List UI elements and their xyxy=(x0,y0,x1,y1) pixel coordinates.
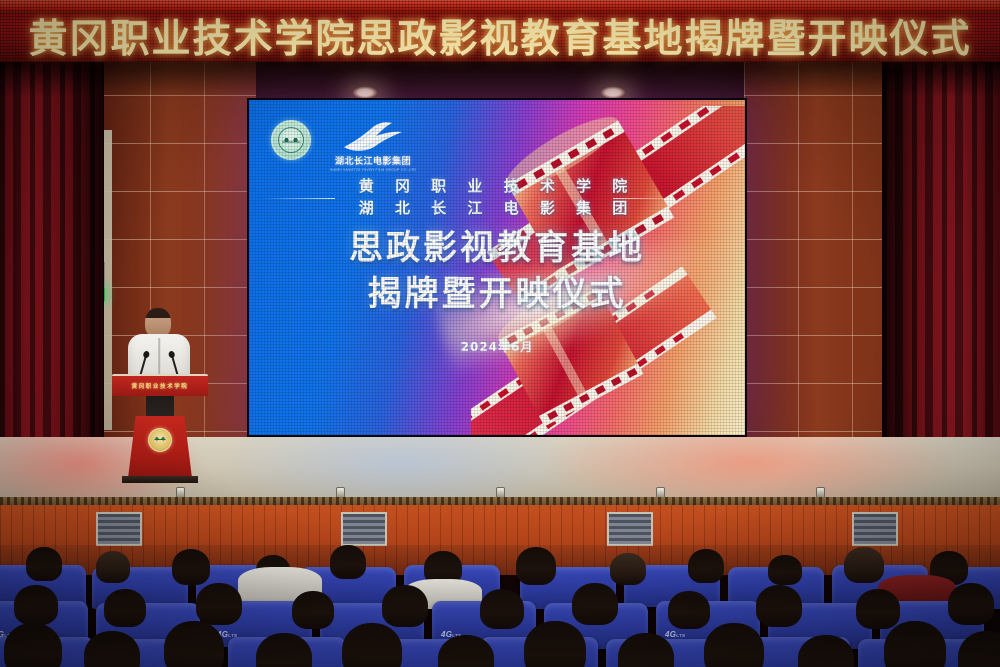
film-group-name-cn: 湖北长江电影集团 xyxy=(327,154,419,167)
audience-seating: 4GLTE 4GLTE 4GLTE 4GLTE 4GLTE 4GL xyxy=(0,545,1000,667)
headline-line-1: 思政影视教育基地 xyxy=(249,226,745,272)
audience-head xyxy=(196,583,242,625)
lectern-top: 黄冈职业技术学院 xyxy=(112,374,208,396)
audience-head xyxy=(610,553,646,585)
audience-head xyxy=(844,547,884,583)
film-group-name-en: HUBEI YANGTZE RIVER FILM GROUP CO.,LTD xyxy=(327,168,419,172)
stage-top-shadow xyxy=(0,58,1000,98)
stage-wall-right xyxy=(744,60,904,480)
stage-front-vent xyxy=(852,512,898,546)
audience-head xyxy=(330,545,366,579)
audience-head xyxy=(524,621,586,667)
lectern-neck xyxy=(146,396,174,418)
decorative-rule-right xyxy=(613,198,685,199)
audience-head xyxy=(104,589,146,627)
stage-front-vent xyxy=(607,512,653,546)
film-group-logo: 湖北长江电影集团 HUBEI YANGTZE RIVER FILM GROUP … xyxy=(327,120,419,172)
auditorium-ceremony-photo: 湖北长江电影集团 HUBEI YANGTZE RIVER FILM GROUP … xyxy=(0,0,1000,667)
audience-head xyxy=(14,585,58,625)
seat-brand-label: 4GLTE xyxy=(665,630,686,639)
stage-edge xyxy=(0,497,1000,505)
audience-head xyxy=(164,621,224,667)
led-screen-content: 湖北长江电影集团 HUBEI YANGTZE RIVER FILM GROUP … xyxy=(249,100,745,435)
screen-logo-row: 湖北长江电影集团 HUBEI YANGTZE RIVER FILM GROUP … xyxy=(271,120,419,172)
audience-head xyxy=(342,623,402,667)
screen-date: 2024年6月 xyxy=(249,338,745,355)
audience-head xyxy=(704,623,764,667)
stage-curtain-left xyxy=(0,58,104,483)
audience-head xyxy=(688,549,724,583)
org-line-1: 黄 冈 职 业 技 术 学 院 xyxy=(249,176,745,198)
stage-front-vent xyxy=(341,512,387,546)
college-emblem-icon xyxy=(148,428,172,452)
wave-bird-icon xyxy=(340,120,406,152)
audience-head xyxy=(572,583,618,625)
podium-group: 黄冈职业技术学院 xyxy=(112,308,208,483)
stage-front-vent xyxy=(96,512,142,546)
event-title-text: 黄冈职业技术学院思政影视教育基地揭牌暨开映仪式 xyxy=(0,8,1000,64)
lectern-label: 黄冈职业技术学院 xyxy=(112,382,208,390)
audience-head xyxy=(768,555,802,585)
decorative-rule-left xyxy=(263,198,335,199)
screen-headline: 思政影视教育基地 揭牌暨开映仪式 xyxy=(249,226,745,317)
audience-head xyxy=(172,549,210,585)
audience-head xyxy=(756,585,802,627)
audience-head xyxy=(96,551,130,583)
college-seal-icon xyxy=(271,120,311,160)
org-line-2: 湖 北 长 江 电 影 集 团 xyxy=(249,198,745,220)
audience-head xyxy=(4,623,62,667)
audience-head xyxy=(26,547,62,581)
audience-head xyxy=(480,589,524,629)
audience-head xyxy=(856,589,900,629)
audience-head xyxy=(668,591,710,629)
audience-head xyxy=(948,583,994,625)
led-screen: 湖北长江电影集团 HUBEI YANGTZE RIVER FILM GROUP … xyxy=(247,98,747,437)
screen-organizations: 黄 冈 职 业 技 术 学 院 湖 北 长 江 电 影 集 团 xyxy=(249,176,745,220)
stage-curtain-right xyxy=(882,58,1000,483)
audience-head xyxy=(516,547,556,585)
audience-head xyxy=(292,591,334,629)
headline-line-2: 揭牌暨开映仪式 xyxy=(249,272,745,318)
audience-head xyxy=(884,621,946,667)
lectern-base xyxy=(122,476,198,483)
audience-head xyxy=(382,585,428,627)
